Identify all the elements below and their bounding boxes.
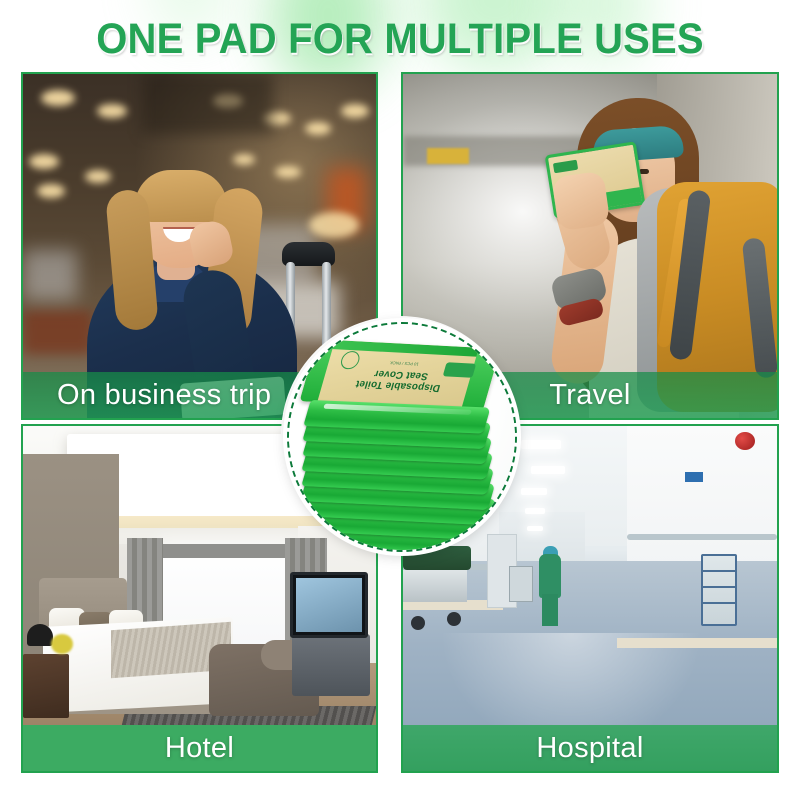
wall-handrail <box>627 534 777 540</box>
staff-in-scrubs <box>539 554 561 598</box>
medical-equipment <box>509 566 533 602</box>
ceiling-light <box>525 508 545 514</box>
ceiling-light <box>341 104 369 118</box>
ceiling-light <box>527 526 543 531</box>
caption-text: Travel <box>549 379 630 412</box>
cart-shelf <box>703 586 735 588</box>
tv-screen <box>296 578 362 632</box>
gurney-wheel <box>411 616 425 630</box>
table-lamp <box>27 624 53 646</box>
ceiling-light <box>37 184 65 198</box>
background-window <box>23 250 77 300</box>
background-sign <box>427 148 469 164</box>
fire-alarm-icon <box>735 432 755 450</box>
staff-legs <box>542 594 558 626</box>
television <box>290 572 368 638</box>
window-valance <box>157 544 297 558</box>
packet-title-line1: Disposable Toilet <box>354 378 441 393</box>
ceiling-light <box>305 122 331 135</box>
hand <box>551 171 610 232</box>
gurney <box>403 546 473 638</box>
caption-text: On business trip <box>57 379 271 412</box>
nightstand <box>23 654 69 718</box>
supply-cart <box>701 554 737 626</box>
packet-label-strip <box>553 160 578 174</box>
gurney-frame <box>403 570 467 602</box>
poster-headline: ONE PAD FOR MULTIPLE USES <box>28 13 772 65</box>
cart-shelf <box>703 570 735 572</box>
cart-shelf <box>703 602 735 604</box>
background-lamp <box>309 212 359 238</box>
caption-text: Hospital <box>536 732 643 765</box>
baseboard <box>617 638 777 648</box>
ceiling-light <box>41 90 75 106</box>
product-pack-stack: Disposable Toilet Seat Cover 10 PCS / PA… <box>301 344 505 520</box>
ceiling-light <box>97 104 127 118</box>
wall-sign <box>685 472 703 482</box>
packet-green-badge <box>443 362 477 378</box>
product-circle-inset[interactable]: Disposable Toilet Seat Cover 10 PCS / PA… <box>287 322 517 552</box>
ceiling-light <box>521 488 547 495</box>
packet-edge <box>300 339 336 402</box>
ceiling-panel <box>143 74 273 134</box>
panel-caption-hotel: Hotel <box>23 725 376 771</box>
dresser <box>292 634 370 696</box>
ceiling-light <box>531 466 565 474</box>
flower-vase <box>51 634 73 654</box>
ceiling-light <box>29 154 59 169</box>
gurney-wheel <box>447 612 461 626</box>
panel-caption-hospital: Hospital <box>403 725 777 771</box>
ceiling-light <box>521 440 561 449</box>
product-poster: ONE PAD FOR MULTIPLE USES <box>0 0 800 800</box>
caption-text: Hotel <box>165 732 234 765</box>
